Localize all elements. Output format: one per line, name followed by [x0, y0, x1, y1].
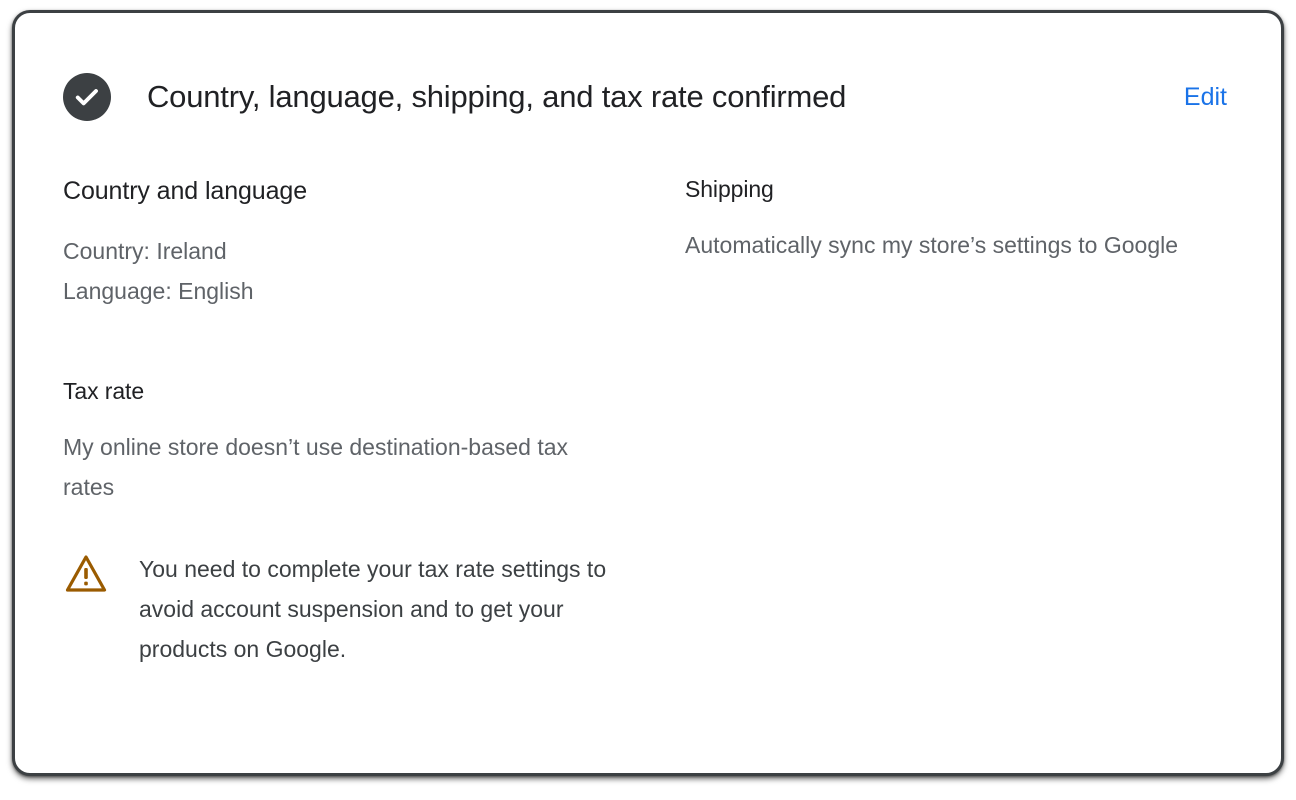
section-shipping: Shipping Automatically sync my store’s s…: [685, 175, 1245, 266]
left-column: Country and language Country: Ireland La…: [63, 175, 685, 669]
edit-button[interactable]: Edit: [1160, 81, 1233, 113]
confirmation-card: Country, language, shipping, and tax rat…: [12, 10, 1284, 776]
right-column: Shipping Automatically sync my store’s s…: [685, 175, 1245, 266]
page-title: Country, language, shipping, and tax rat…: [147, 78, 1160, 116]
warning-triangle-icon: [65, 553, 107, 593]
card-content: Country, language, shipping, and tax rat…: [15, 13, 1281, 773]
tax-rate-heading: Tax rate: [63, 377, 685, 405]
section-tax-rate: Tax rate My online store doesn’t use des…: [63, 377, 685, 669]
check-circle-icon: [63, 73, 111, 121]
card-header: Country, language, shipping, and tax rat…: [63, 73, 1233, 121]
screen-root: Country, language, shipping, and tax rat…: [0, 0, 1296, 800]
country-language-heading: Country and language: [63, 175, 685, 207]
shipping-value: Automatically sync my store’s settings t…: [685, 225, 1225, 266]
tax-rate-warning: You need to complete your tax rate setti…: [65, 549, 685, 669]
shipping-heading: Shipping: [685, 175, 1245, 203]
language-value: Language: English: [63, 278, 254, 304]
section-country-language: Country and language Country: Ireland La…: [63, 175, 685, 311]
country-language-values: Country: Ireland Language: English: [63, 231, 623, 311]
country-value: Country: Ireland: [63, 238, 227, 264]
warning-message: You need to complete your tax rate setti…: [139, 549, 639, 669]
tax-rate-value: My online store doesn’t use destination-…: [63, 427, 603, 507]
details-columns: Country and language Country: Ireland La…: [63, 175, 1233, 669]
